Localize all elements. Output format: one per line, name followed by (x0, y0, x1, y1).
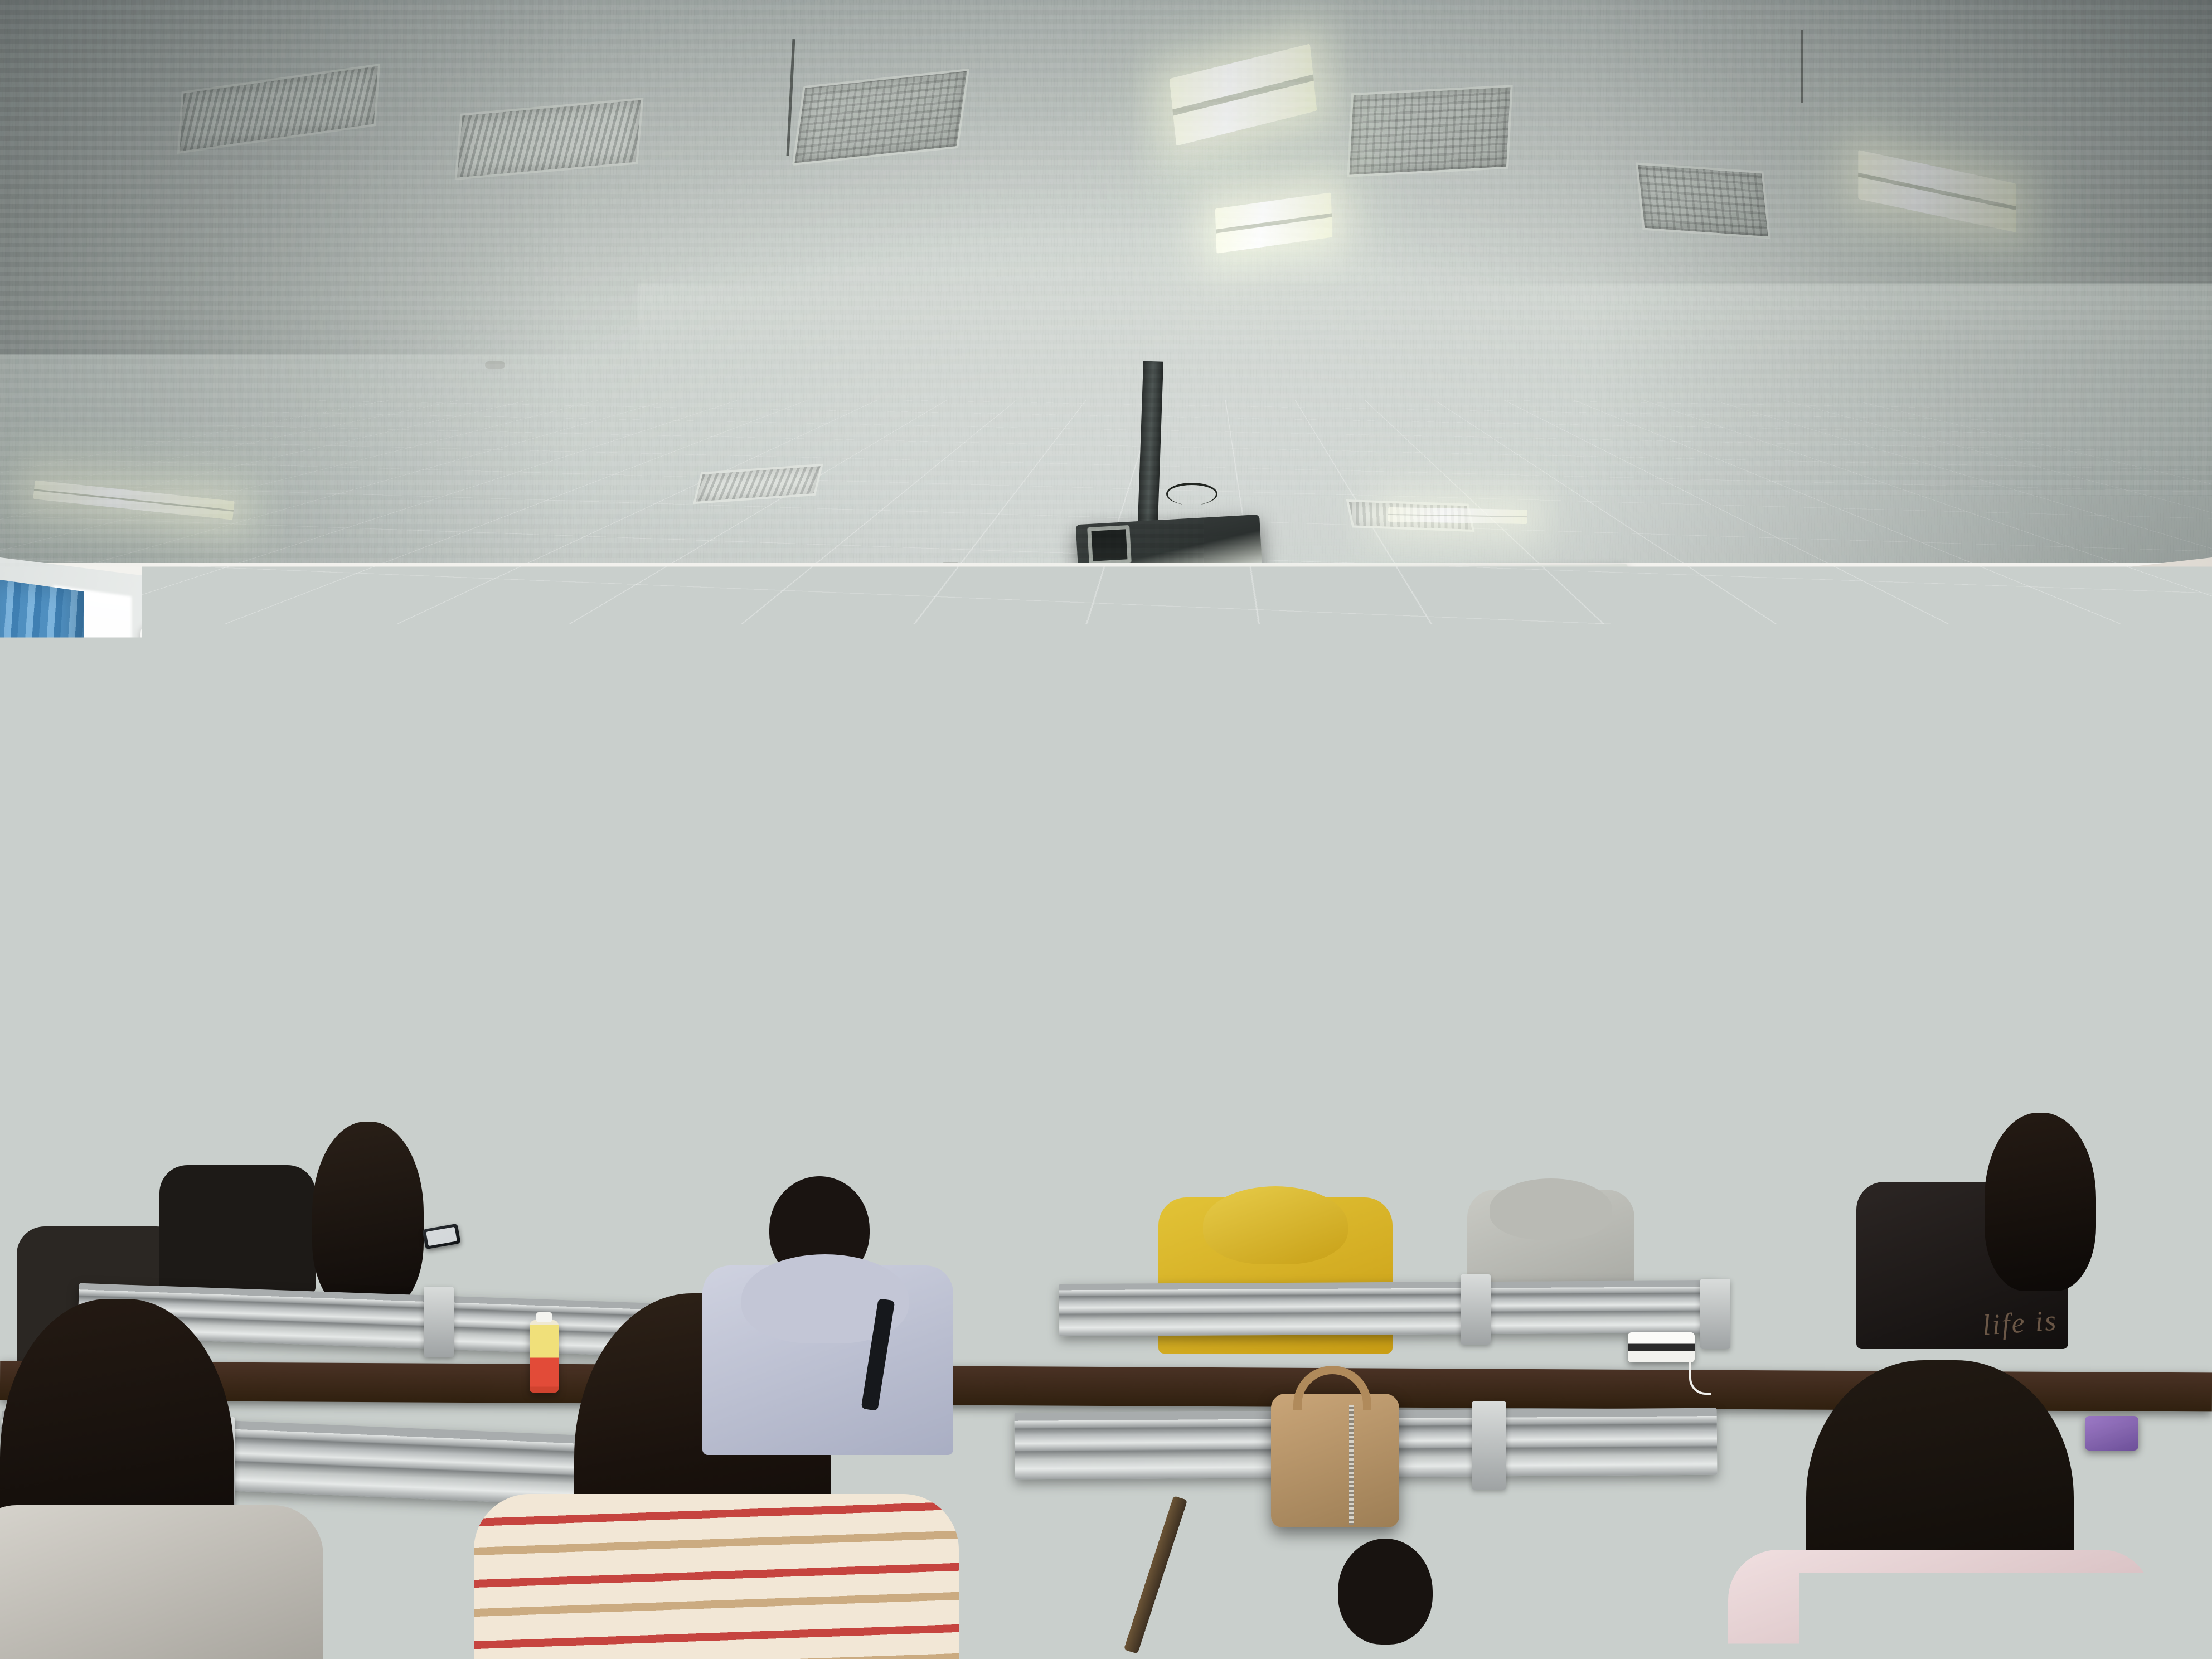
student-head (615, 1016, 685, 1094)
railing-post (114, 912, 118, 996)
slide-item-text: 安全带与交通事故 (1074, 823, 1182, 843)
student-head (1508, 970, 1566, 1035)
slide-item: 4.医院降低健康水平？ (1051, 761, 1444, 783)
hood-icon (1203, 1186, 1348, 1264)
confused-man-icon: ?? (1417, 828, 1450, 875)
ceiling (0, 0, 2212, 624)
pit-label: 遗漏变量 (1379, 881, 1391, 919)
speaker-bio-text: 暨南大学经济学院副教授、博士生导师，汉堡大学客座讲座，2013年获香港大学博士。… (1837, 864, 1898, 952)
pit-label: 双向因果 (1341, 881, 1354, 919)
camera-lens-icon (167, 632, 186, 651)
bench-row (1226, 1056, 1784, 1104)
student-head (590, 948, 649, 1015)
student-head (1439, 977, 1493, 1037)
slide-item: 1.睡眠时间越短的人，收入越高 (1050, 671, 1443, 692)
bench-divider (1472, 1401, 1506, 1490)
student-hair (1581, 979, 1670, 1124)
right-wall-speaker (2134, 599, 2196, 691)
student-torso (159, 1165, 316, 1293)
railing-post (84, 910, 88, 988)
student-head (290, 987, 357, 1061)
orange-collar (1338, 1003, 1369, 1018)
purple-pencil-case[interactable] (2085, 1416, 2138, 1451)
tan-backpack[interactable] (1271, 1394, 1399, 1527)
slide-item-number: 5. (1052, 794, 1067, 813)
power-bank[interactable] (1628, 1332, 1695, 1362)
bench-divider (1700, 1279, 1730, 1349)
bench-divider (736, 1174, 763, 1236)
university-name: 暨南大学 (1768, 764, 1806, 776)
green-hoodie-student-head (1176, 1029, 1245, 1107)
poster-topic-line: 主 题：识别与分析 (1743, 966, 1896, 976)
marker-pen[interactable] (562, 943, 569, 958)
slide-item: 3.雪糕卖的越多，游泳溺亡的人越多 (1051, 731, 1444, 753)
slide-item-text: 打篮球的人，个子比较高 (1072, 702, 1220, 722)
student-hair (2113, 979, 2208, 1118)
projector-lens (1087, 525, 1132, 565)
speaker-portrait (1769, 862, 1833, 944)
university-logo-icon (1747, 761, 1763, 778)
student-hair (312, 1122, 424, 1311)
speaker-bio: 郑贤暨南大学经济学院副教授、博士生导师，汉堡大学客座讲座，2013年获香港大学博… (1837, 862, 1898, 953)
slide-item-text: 医院降低健康水平？ (1073, 763, 1194, 783)
projector-cable (1166, 483, 1217, 505)
left-wall-speaker (417, 623, 466, 712)
poster-heading-line1: 暨南大学经济学院学生 (1738, 787, 1903, 805)
smartphone[interactable] (1571, 1607, 1618, 1634)
student-hair (2024, 970, 2113, 1109)
student-head (195, 1084, 279, 1178)
window-curtain (0, 580, 84, 959)
illustration-pit: 自我选择 (1412, 878, 1434, 921)
eyeglasses-icon (730, 809, 776, 822)
railing-post (145, 914, 149, 998)
student-head (780, 962, 837, 1028)
striped-sweater-student (474, 1494, 959, 1659)
bench-divider (424, 1287, 454, 1357)
backpack-zipper (1349, 1405, 1354, 1525)
marker-pen[interactable] (549, 943, 556, 958)
poster-heading-line3: “创新课堂”（六） (1738, 826, 1903, 844)
slide-item-number: 1. (1050, 673, 1065, 692)
railing-endcap (241, 902, 260, 921)
slide-item: 5.在职培训与工资水平 (1052, 791, 1445, 813)
speaker-name: 郑贤 (1838, 863, 1848, 868)
student-torso (1282, 1617, 1505, 1659)
presenter-hand (747, 918, 772, 942)
student-head (468, 971, 526, 1037)
bench-divider (1461, 1274, 1491, 1345)
sweater-text: life is (1981, 1304, 2059, 1342)
slide-illustration: 双向因果 遗漏变量 自我选择 ?? (1313, 823, 1454, 924)
student-torso (0, 1505, 323, 1659)
slide-item-text: 在职培训与工资水平 (1074, 793, 1195, 813)
student-head (904, 970, 960, 1035)
pit-label: 自我选择 (1417, 881, 1429, 919)
slide-bullet-list: 1.睡眠时间越短的人，收入越高 2.打篮球的人，个子比较高 3.雪糕卖的越多，游… (1050, 671, 1445, 843)
event-poster: 暨南大学 暨南大学经济学院学生 创新学习与实践训练营之 “创新课堂”（六） 郑贤… (1733, 751, 1908, 1010)
student-head (379, 1020, 463, 1115)
slide-item-number: 2. (1050, 704, 1065, 722)
bench-divider (1422, 1057, 1446, 1112)
smoke-detector (485, 361, 505, 369)
illustration-pit: 遗漏变量 (1374, 878, 1396, 921)
pink-thermos[interactable] (1805, 1120, 1831, 1190)
ceiling-rod (1801, 30, 1803, 103)
slide-item-number: 6. (1052, 824, 1068, 843)
hood-icon (1490, 1178, 1612, 1240)
bench-row (1059, 1280, 1717, 1336)
slide-item-number: 4. (1051, 764, 1066, 783)
student-hair (1985, 1113, 2096, 1291)
tea-bottle[interactable] (530, 1320, 559, 1393)
student-hair (957, 1112, 1074, 1307)
slide-item: 2.打篮球的人，个子比较高 (1050, 701, 1443, 722)
projection-screen: 相关性陷阱 1.睡眠时间越短的人，收入越高 2.打篮球的人，个子比较高 3.雪糕… (1017, 601, 1463, 936)
student-head (1907, 1093, 1996, 1193)
student-head (0, 969, 67, 1045)
student-head (1054, 1035, 1125, 1115)
railing-post (206, 919, 210, 1002)
wall-outlet[interactable] (1672, 652, 1701, 677)
lecture-hall-photo: 相关性陷阱 1.睡眠时间越短的人，收入越高 2.打篮球的人，个子比较高 3.雪糕… (0, 0, 2212, 1659)
slide-item-number: 3. (1051, 734, 1066, 753)
slide-item-text: 睡眠时间越短的人，收入越高 (1071, 672, 1246, 692)
student-hair (1851, 974, 1934, 1108)
bench-divider (546, 1076, 571, 1132)
illustration-pit: 双向因果 (1336, 879, 1358, 922)
slide-item-text: 雪糕卖的越多，游泳溺亡的人越多 (1073, 733, 1274, 753)
poster-heading-line2: 创新学习与实践训练营之 (1738, 806, 1903, 824)
blackboard-right-panel (1455, 589, 1672, 930)
poster-banner: 暨南大学 暨南大学经济学院学生 创新学习与实践训练营之 “创新课堂”（六） (1738, 755, 1904, 855)
railing-post (176, 916, 180, 1000)
student-torso (1728, 1550, 2152, 1659)
camera-bracket (196, 617, 222, 631)
slide-title: 相关性陷阱 (1049, 625, 1442, 663)
